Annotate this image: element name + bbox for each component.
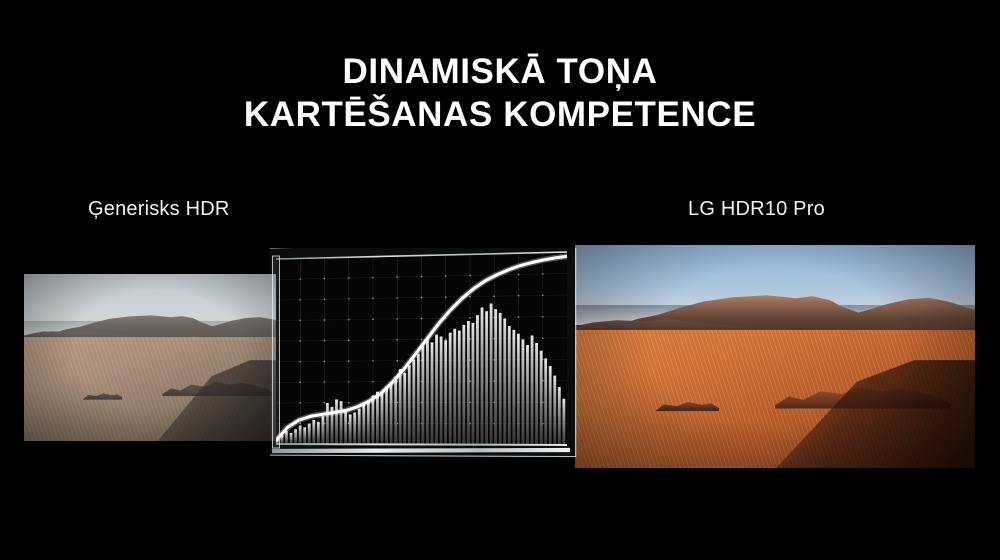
panel-frame-edge	[276, 444, 567, 445]
image-lg-hdr10-pro: Same desert dune landscape, vivid dynami…	[575, 245, 975, 468]
foreground-dune	[575, 330, 975, 468]
page-title: DINAMISKĀ TOŅA KARTĒŠANAS KOMPETENCE	[0, 50, 1000, 136]
caption-lg-hdr10-pro: LG HDR10 Pro	[688, 198, 825, 221]
image-generic-hdr: Desert dune landscape, flat washed-out t…	[24, 274, 290, 441]
desert-scene-lg	[575, 245, 975, 468]
caption-generic-hdr: Ģenerisks HDR	[88, 198, 230, 221]
desert-scene-generic	[24, 274, 290, 441]
slide-canvas: DINAMISKĀ TOŅA KARTĒŠANAS KOMPETENCE Ģen…	[0, 0, 1000, 560]
tone-mapping-graph-panel	[270, 248, 580, 468]
tone-mapping-chart	[270, 248, 580, 468]
glass-left-strut	[273, 256, 280, 448]
panel-frame-edge	[272, 450, 570, 451]
foreground-dune	[24, 337, 290, 441]
